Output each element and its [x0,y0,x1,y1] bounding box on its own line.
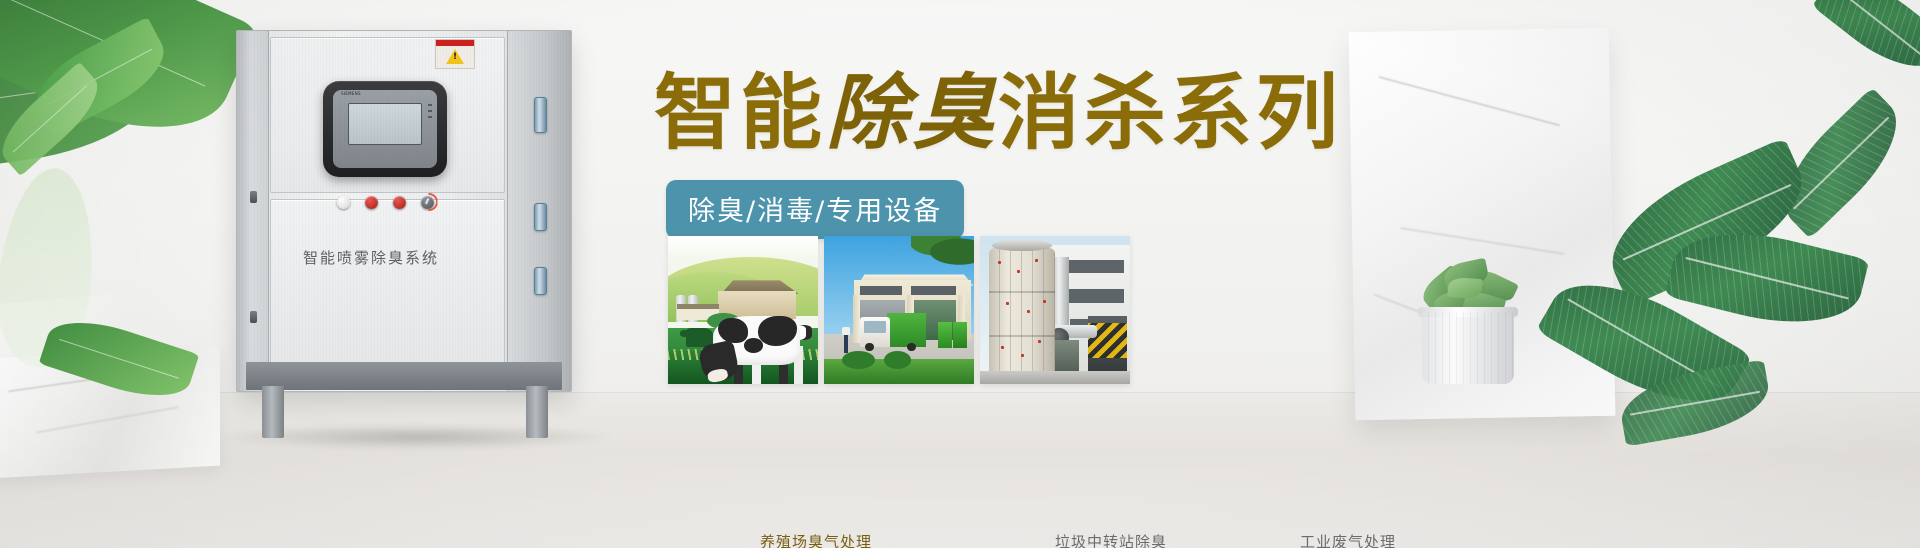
cabinet-lock-icon [250,311,257,323]
cabinet-handle [534,203,547,231]
hmi-button-row [323,196,447,209]
cabinet-plinth [246,362,562,390]
photo-farm-cattle [668,236,818,384]
page-title-part-1: 智能 [654,66,826,161]
caption-item: 养殖场臭气处理 [760,531,872,548]
caption-item: 垃圾中转站除臭 [1055,531,1167,548]
photo-strip [668,236,1130,384]
cabinet-handle [534,97,547,133]
cabinet-lock-icon [250,191,257,203]
caption-item: 工业废气处理 [1300,531,1396,548]
cabinet-leg [526,386,548,438]
cabinet-right-panel [507,31,571,391]
warning-sticker-bar [436,40,474,46]
page-title-part-3: 消杀系列 [998,66,1342,161]
cabinet-leg [262,386,284,438]
promo-banner: SIEMENS 智能喷雾除臭系统 智能除臭消杀系列 除臭/消毒/专用设备 [0,0,1920,548]
machine-label: 智能喷雾除臭系统 [237,247,505,268]
hmi-faceplate: SIEMENS [333,90,437,168]
hmi-control-panel: SIEMENS [323,81,447,177]
selector-knob-icon [421,196,434,209]
deodorizing-cabinet: SIEMENS 智能喷雾除臭系统 [236,30,572,392]
hmi-status-leds [428,104,432,122]
start-button-icon [393,196,406,209]
photo-deodorization-tower [980,236,1130,384]
page-title: 智能除臭消杀系列 [654,72,1342,155]
cabinet-left-column [237,31,269,391]
photo-garbage-transfer-station [824,236,974,384]
warning-sticker [435,39,475,69]
page-title-part-2: 除臭 [826,65,998,161]
caption-row: 养殖场臭气处理 垃圾中转站除臭 工业废气处理 [0,526,1920,548]
hmi-screen [348,103,422,145]
cabinet-handle [534,267,547,295]
hmi-brand-label: SIEMENS [341,91,361,96]
warning-triangle-icon [446,49,464,64]
subtitle-badge: 除臭/消毒/专用设备 [666,180,964,239]
plant-pot [1422,312,1514,384]
cabinet-lower-door [270,199,505,385]
power-button-icon [337,196,350,209]
stop-button-icon [365,196,378,209]
banana-leaf-icon [1812,0,1920,86]
